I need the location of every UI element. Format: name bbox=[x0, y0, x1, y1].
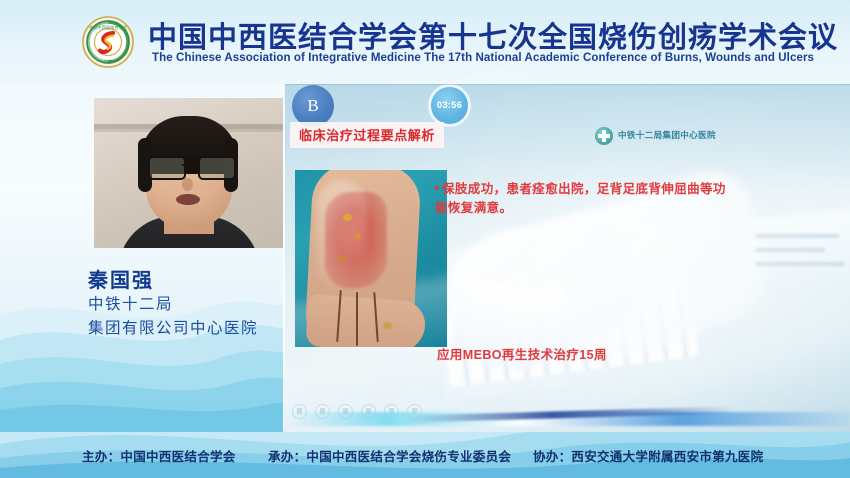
hospital-logo: 中铁十二局集团中心医院 bbox=[595, 124, 740, 148]
bullet-text-content: 保肢成功，患者痊愈出院，足背足底背伸屈曲等功能恢复满意。 bbox=[435, 182, 726, 215]
conference-header: 中国中西医结合学会 CAIM 中国中西医结合学会第十七次全国烧伤创疡学术会议 T… bbox=[0, 0, 850, 84]
footer-bar: 主办：中国中西医结合学会 承办：中国中西医结合学会烧伤专业委员会 协办：西安交通… bbox=[0, 432, 850, 478]
page-subtitle-english: The Chinese Association of Integrative M… bbox=[152, 52, 814, 64]
glasses-lens-right bbox=[198, 156, 236, 180]
slide-photo-caption: 应用MEBO再生技术治疗15周 bbox=[437, 344, 607, 363]
slide-bullet-text: 保肢成功，患者痊愈出院，足背足底背伸屈曲等功能恢复满意。 bbox=[435, 180, 735, 219]
svg-text:CAIM: CAIM bbox=[104, 59, 113, 63]
association-emblem-icon: 中国中西医结合学会 CAIM bbox=[82, 16, 134, 68]
elapsed-time-badge: 03:56 bbox=[431, 87, 468, 124]
glasses-bridge bbox=[182, 164, 198, 166]
presenter-video-feed[interactable] bbox=[94, 98, 283, 248]
presenter-org-line1: 中铁十二局 bbox=[88, 292, 173, 314]
presenter-org-line2: 集团有限公司中心医院 bbox=[88, 316, 258, 338]
presenter-name: 秦国强 bbox=[88, 264, 154, 293]
conference-broadcast-screen: 中国中西医结合学会 CAIM 中国中西医结合学会第十七次全国烧伤创疡学术会议 T… bbox=[0, 0, 850, 478]
wound-crust-spot bbox=[339, 256, 346, 262]
patient-toes bbox=[305, 294, 426, 347]
clinical-photo bbox=[295, 170, 447, 347]
wound-crust-spot bbox=[383, 322, 392, 329]
svg-text:中国中西医结合学会: 中国中西医结合学会 bbox=[89, 24, 128, 31]
bullet-point-icon bbox=[435, 186, 439, 190]
presentation-slide[interactable]: B 03:56 临床治疗过程要点解析 中铁十二局集团中心医院 保肢成功，患者痊愈… bbox=[285, 84, 850, 432]
footer-co-organizer: 协办：西安交通大学附属西安市第九医院 bbox=[533, 446, 763, 465]
presenter-mouth bbox=[176, 194, 200, 205]
wound-crust-spot bbox=[343, 214, 352, 221]
page-title: 中国中西医结合学会第十七次全国烧伤创疡学术会议 bbox=[148, 14, 838, 56]
footer-undertaker: 承办：中国中西医结合学会烧伤专业委员会 bbox=[268, 446, 511, 465]
presenter-nose bbox=[182, 178, 193, 191]
slide-title-banner: 临床治疗过程要点解析 bbox=[290, 122, 444, 148]
footer-organizer: 主办：中国中西医结合学会 bbox=[82, 446, 236, 465]
speaker-avatar[interactable]: B bbox=[292, 85, 334, 127]
presenter-glasses bbox=[148, 156, 232, 176]
slide-top-border bbox=[285, 84, 850, 85]
slide-left-border bbox=[283, 84, 284, 432]
presenter-panel: 秦国强 中铁十二局 集团有限公司中心医院 bbox=[0, 84, 283, 432]
hospital-cross-icon bbox=[595, 127, 613, 145]
hospital-name-label: 中铁十二局集团中心医院 bbox=[618, 131, 716, 141]
glasses-lens-left bbox=[148, 156, 186, 180]
wound-crust-spot bbox=[355, 234, 361, 239]
